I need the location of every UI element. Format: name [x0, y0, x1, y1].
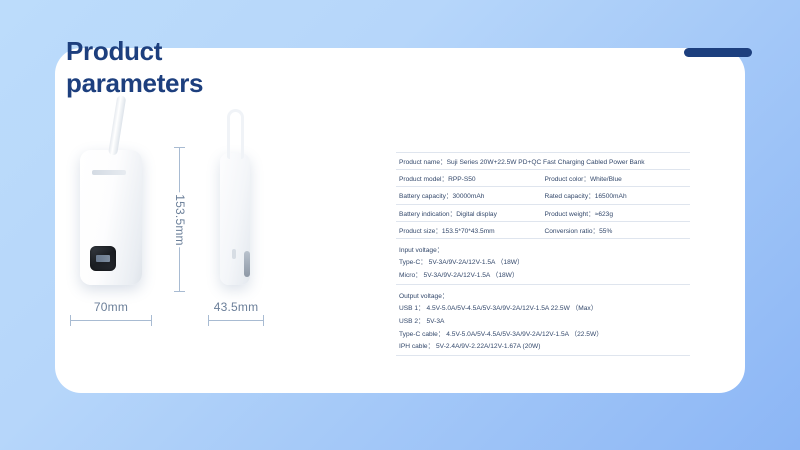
brand-mark: [92, 170, 126, 175]
spec-key: Product color：: [545, 176, 590, 183]
dimension-label-depth: 43.5mm: [208, 300, 264, 314]
accent-pill-decoration: [684, 48, 752, 57]
spec-key: Battery capacity：: [399, 193, 453, 200]
side-marking: [232, 249, 236, 259]
output-voltage-line: USB 1： 4.5V-5.0A/5V-4.5A/5V-3A/9V-2A/12V…: [399, 301, 690, 314]
spec-key: Battery indication：: [399, 211, 456, 218]
spec-cell: Product name：Suji Series 20W+22.5W PD+QC…: [399, 156, 690, 166]
spec-value: 30000mAh: [453, 193, 485, 200]
spec-value: RPP-S50: [448, 176, 476, 183]
spec-cell: Product size：153.5*70*43.5mm: [399, 225, 545, 235]
output-voltage-block: Output voltage： USB 1： 4.5V-5.0A/5V-4.5A…: [396, 284, 690, 356]
dimension-height: 153.5mm: [168, 147, 192, 292]
spec-cell: Battery capacity：30000mAh: [399, 190, 545, 200]
title-line-1: Product: [66, 36, 203, 68]
caliper-bar: [208, 320, 264, 321]
specification-table: Product name：Suji Series 20W+22.5W PD+QC…: [396, 152, 690, 356]
caliper-cap-left: [70, 315, 71, 326]
spec-cell: Product color：White/Blue: [545, 173, 691, 183]
table-row: Product name：Suji Series 20W+22.5W PD+QC…: [396, 152, 690, 169]
spec-key: Product weight：: [545, 211, 595, 218]
spec-key: Rated capacity：: [545, 193, 595, 200]
usb-port-icon: [244, 251, 250, 277]
spec-value: 153.5*70*43.5mm: [442, 228, 495, 235]
digital-display-icon: [90, 246, 116, 271]
dimension-label-height: 153.5mm: [170, 192, 190, 247]
caliper-cap-right: [151, 315, 152, 326]
power-bank-side-view: [220, 153, 250, 285]
spec-value: White/Blue: [590, 176, 622, 183]
power-bank-front-view: [80, 150, 142, 285]
dimension-width-side: 43.5mm: [208, 300, 264, 314]
spec-value: 55%: [599, 228, 612, 235]
attached-cable: [108, 95, 126, 156]
spec-cell: Product model：RPP-S50: [399, 173, 545, 183]
table-row: Product model：RPP-S50 Product color：Whit…: [396, 169, 690, 186]
spec-cell: Conversion ratio：55%: [545, 225, 691, 235]
spec-value: 16500mAh: [595, 193, 627, 200]
cable-loop: [227, 109, 244, 159]
spec-cell: Product weight：≈623g: [545, 208, 691, 218]
input-voltage-line: Type-C： 5V-3A/9V-2A/12V-1.5A （18W）: [399, 255, 690, 268]
output-voltage-heading: Output voltage：: [399, 288, 690, 301]
input-voltage-block: Input voltage： Type-C： 5V-3A/9V-2A/12V-1…: [396, 238, 690, 284]
spec-value: Digital display: [456, 211, 497, 218]
spec-value: ≈623g: [595, 211, 613, 218]
output-voltage-line: USB 2： 5V-3A: [399, 314, 690, 327]
page-title: Product parameters: [66, 36, 203, 99]
input-voltage-line: Micro： 5V-3A/9V-2A/12V-1.5A （18W）: [399, 268, 690, 281]
spec-key: Product model：: [399, 176, 448, 183]
display-digits: [96, 255, 110, 262]
dimension-label-width: 70mm: [70, 300, 152, 314]
table-row: Product size：153.5*70*43.5mm Conversion …: [396, 221, 690, 238]
input-voltage-heading: Input voltage：: [399, 242, 690, 255]
caliper-cap-left: [208, 315, 209, 326]
output-voltage-line: Type-C cable： 4.5V-5.0A/5V-4.5A/5V-3A/9V…: [399, 326, 690, 339]
caliper-cap-bottom: [174, 291, 185, 292]
spec-key: Product name：: [399, 159, 447, 166]
table-row: Battery indication：Digital display Produ…: [396, 204, 690, 221]
dimension-width-front: 70mm: [70, 300, 152, 314]
spec-key: Conversion ratio：: [545, 228, 600, 235]
spec-cell: Battery indication：Digital display: [399, 208, 545, 218]
caliper-cap-right: [263, 315, 264, 326]
spec-cell: Rated capacity：16500mAh: [545, 190, 691, 200]
table-row: Battery capacity：30000mAh Rated capacity…: [396, 186, 690, 203]
slide-root: Product parameters 70mm 43.5mm: [0, 0, 800, 450]
spec-key: Product size：: [399, 228, 442, 235]
output-voltage-line: IPH cable： 5V-2.4A/9V-2.22A/12V-1.67A (2…: [399, 339, 690, 352]
product-image-zone: 70mm 43.5mm 153.5mm: [60, 95, 330, 350]
caliper-bar: [70, 320, 152, 321]
spec-value: Suji Series 20W+22.5W PD+QC Fast Chargin…: [447, 159, 645, 166]
caliper-cap-top: [174, 147, 185, 148]
